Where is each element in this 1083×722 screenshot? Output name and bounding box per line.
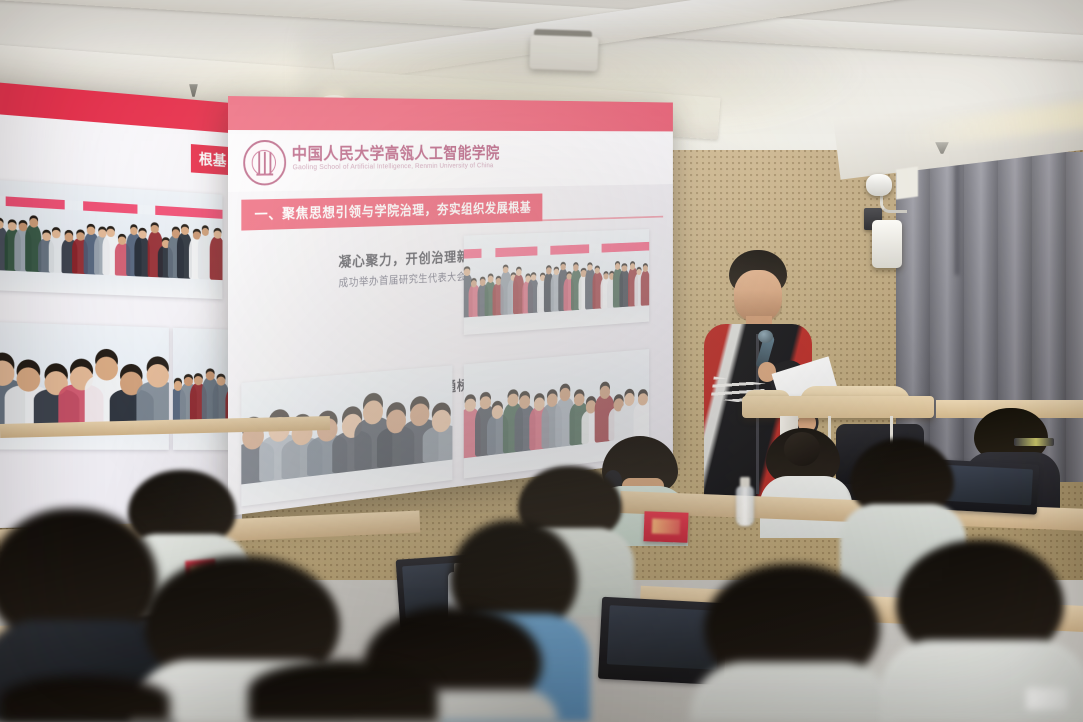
audience-hair	[850, 438, 954, 514]
list-item	[690, 564, 896, 722]
photo-person-head	[217, 376, 225, 385]
audience-hair	[248, 660, 438, 722]
list-item	[0, 676, 170, 722]
photo-person	[210, 237, 223, 281]
photo-person-head	[65, 233, 73, 242]
name-card	[643, 511, 688, 543]
curtain-fold	[955, 155, 959, 275]
audience-hair	[896, 540, 1064, 652]
photo-stage-banner	[0, 193, 222, 219]
photo-person-head	[206, 371, 215, 380]
secondary-projection-screen: 根基	[0, 80, 242, 528]
photo-person-head	[138, 230, 146, 239]
slide-photo	[0, 178, 222, 300]
list-item	[760, 428, 852, 538]
shirt-print	[1026, 688, 1068, 710]
photo-person-head	[147, 364, 169, 388]
photo-person-head	[194, 376, 203, 385]
list-item	[248, 660, 438, 722]
water-bottle	[736, 486, 754, 526]
photo-person-head	[76, 232, 84, 241]
photo-person-head	[213, 231, 221, 240]
slide-body	[0, 112, 242, 528]
audience-hair	[144, 556, 340, 676]
photo-person-head	[16, 367, 40, 392]
list-item	[880, 540, 1083, 722]
audience-shirt	[690, 662, 896, 722]
audience-hair	[0, 676, 170, 722]
photo-person-head	[29, 218, 37, 227]
audience-hair	[704, 564, 880, 676]
camera-icon	[866, 174, 892, 196]
speaker-icon	[872, 220, 902, 268]
eyeglasses-icon	[1014, 438, 1054, 446]
photo-person-head	[107, 228, 115, 237]
presentation-photo-scene: 根基 中国人民大学高瓴人工智能学院 Gaoling School of Arti…	[0, 0, 1083, 722]
photo-crowd	[0, 215, 222, 280]
microphone-head-icon	[758, 330, 773, 343]
name-card-text	[652, 519, 681, 535]
bottle-cap	[740, 477, 749, 487]
audience-hair-bun	[784, 432, 820, 466]
photo-person-head	[181, 226, 189, 235]
lectern	[742, 396, 934, 418]
photo-crowd	[0, 365, 169, 428]
air-conditioner-icon	[529, 35, 598, 71]
